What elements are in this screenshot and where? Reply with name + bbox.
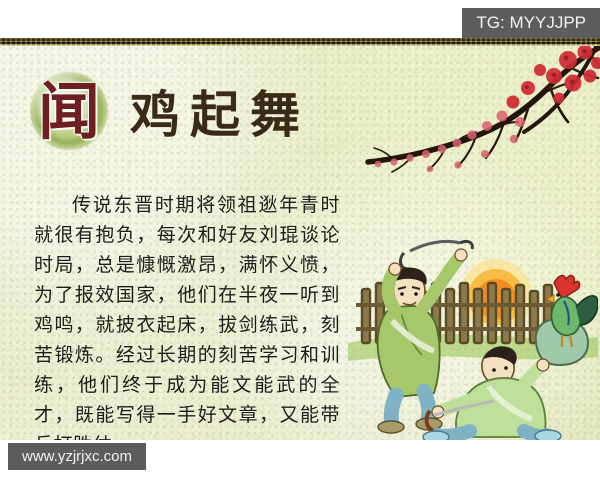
watermark-top: TG: MYYJJPP <box>462 8 600 38</box>
title-seal: 闻 <box>26 66 112 158</box>
title-remaining-characters: 鸡起舞 <box>130 90 310 140</box>
sword-blade <box>410 241 460 251</box>
swordplay-illustration <box>348 225 598 440</box>
watermark-bottom-url: www.yzjrjxc.com <box>8 443 146 470</box>
plum-blossom-illustration <box>354 38 600 186</box>
poster-canvas: 闻 鸡起舞 传说东晋时期将领祖逖年青时就很有抱负，每次和好友刘琨谈论时局，总是慷… <box>0 38 600 440</box>
poster-title: 闻 鸡起舞 <box>26 66 310 158</box>
title-seal-character: 闻 <box>38 81 100 143</box>
seated-swordsman <box>423 346 561 440</box>
story-paragraph: 传说东晋时期将领祖逖年青时就很有抱负，每次和好友刘琨谈论时局，总是慷慨激昂，满怀… <box>34 190 340 440</box>
top-border-texture <box>0 38 600 46</box>
